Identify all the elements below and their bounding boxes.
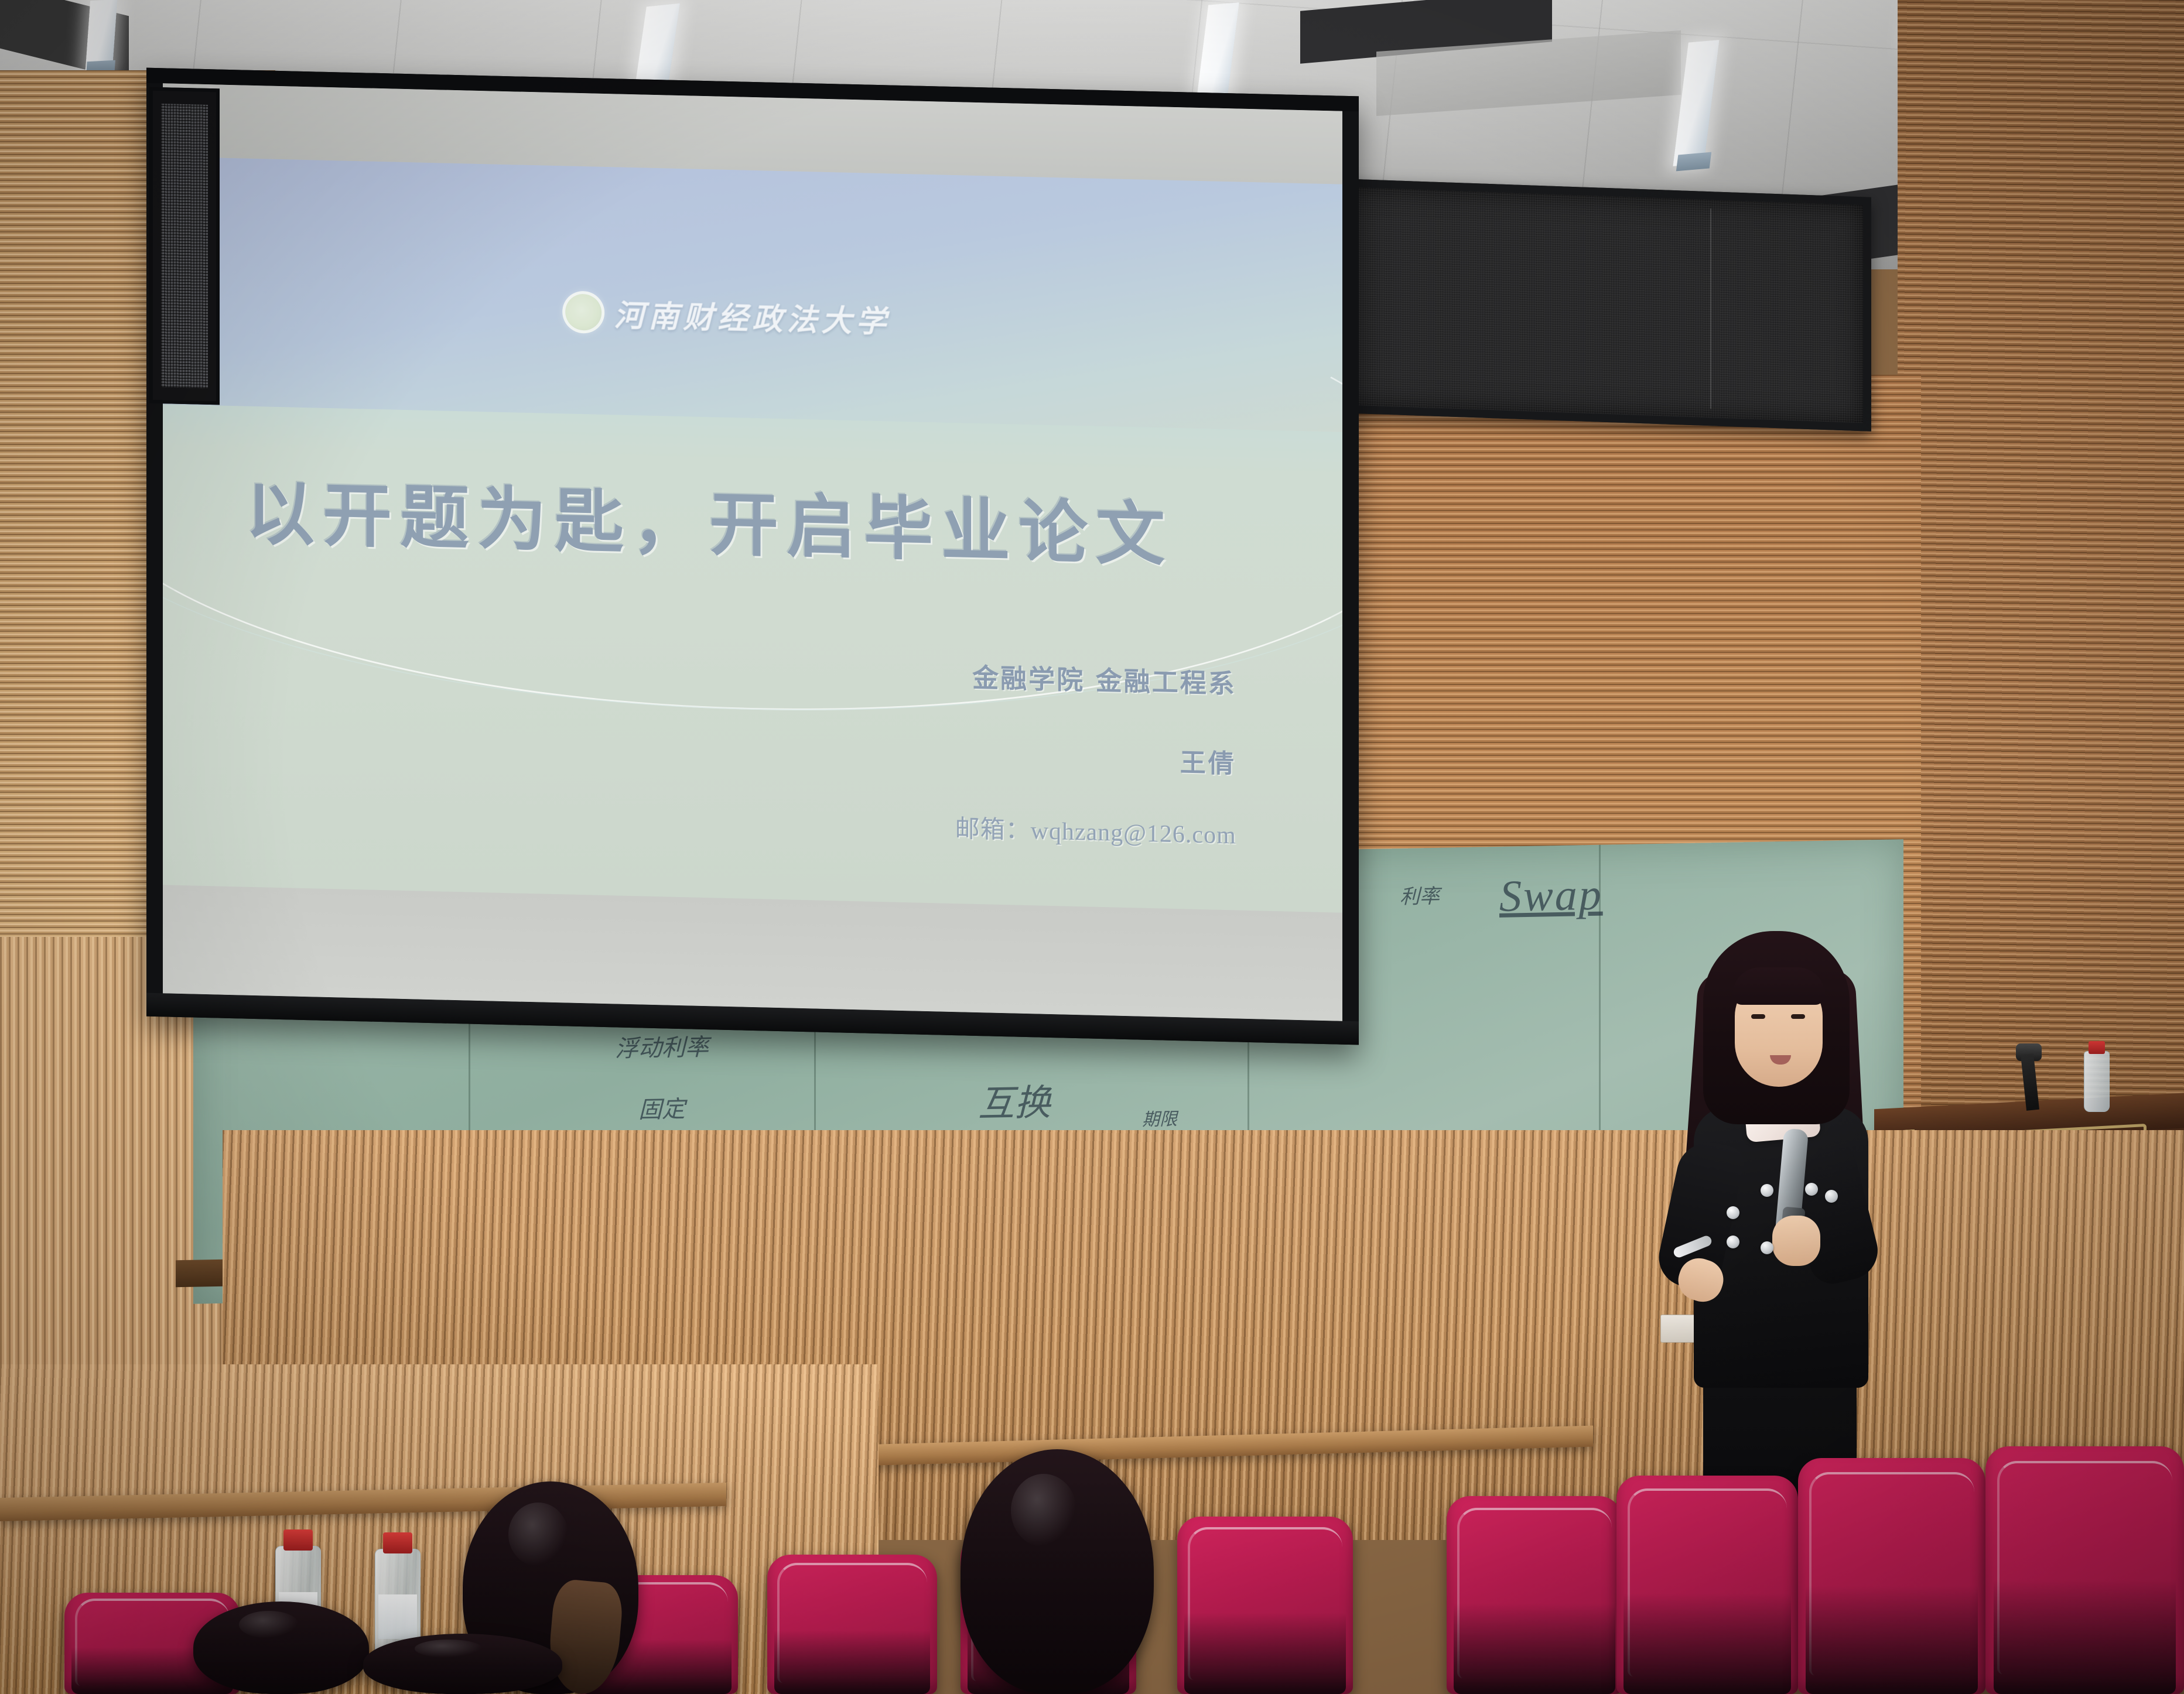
bottle-cap [383,1532,412,1553]
seat[interactable] [1616,1476,1798,1694]
board-note-text-3: 浮动利率 [615,1028,709,1064]
audience-head [961,1449,1154,1694]
seat[interactable] [1798,1458,1985,1694]
screen-surface: 河南财经政法大学 以开题为匙，开启毕业论文 金融学院 金融工程系 王倩 邮箱：w… [163,83,1342,1021]
presenter-hand-right [1772,1216,1820,1266]
podium-bottle-cap [2089,1041,2105,1054]
dark-panel-seam [1710,208,1711,409]
coat-button-1 [1727,1206,1739,1219]
ceiling-lamp-4-lip [1676,152,1711,172]
seat[interactable] [1177,1517,1353,1694]
slide-email: 邮箱：wqhzang@126.com [955,809,1236,851]
board-note-text-8: 期限 [1142,1104,1177,1131]
university-logo-text: 河南财经政法大学 [614,291,890,341]
board-note-text-2: 利率 [1400,880,1440,909]
seat[interactable] [1447,1496,1622,1694]
coat-button-3 [1761,1184,1773,1197]
coat-button-5 [1805,1183,1818,1196]
bottle-label [378,1594,418,1640]
slide-department: 金融学院 金融工程系 [972,656,1236,701]
university-seal-icon [562,290,604,334]
audience-head [363,1634,562,1694]
coat-button-4 [1761,1241,1773,1254]
projection-screen: 河南财经政法大学 以开题为匙，开启毕业论文 金融学院 金融工程系 王倩 邮箱：w… [146,68,1359,1045]
bottle-cap [283,1529,313,1551]
university-logo: 河南财经政法大学 [562,290,890,341]
coat-button-6 [1825,1190,1838,1203]
speaker-grille-icon [161,104,208,388]
dark-panel-mesh [1317,186,1863,423]
presentation-slide: 河南财经政法大学 以开题为匙，开启毕业论文 金融学院 金融工程系 王倩 邮箱：w… [163,156,1342,912]
wall-speaker [149,87,220,405]
audience-head [193,1601,369,1694]
slide-presenter-name: 王倩 [1180,741,1236,780]
dark-display-panel [1309,177,1871,432]
coat-button-2 [1727,1236,1739,1248]
presenter-bangs [1732,967,1825,1005]
seat[interactable] [1985,1446,2184,1694]
presenter-eye-left [1751,1014,1765,1019]
board-note-text-1: Swap [1499,870,1603,922]
presenter-eye-right [1791,1014,1805,1019]
seat[interactable] [767,1555,937,1694]
lecture-hall-photo: 利率 Swap 浮动利率 固定 现金流 名义本金 互换 期限 支付 价值 现金流… [0,0,2184,1694]
podium-water-bottle [2084,1051,2110,1112]
board-note-text-7: 互换 [978,1073,1051,1127]
board-note-text-4: 固定 [638,1090,685,1124]
